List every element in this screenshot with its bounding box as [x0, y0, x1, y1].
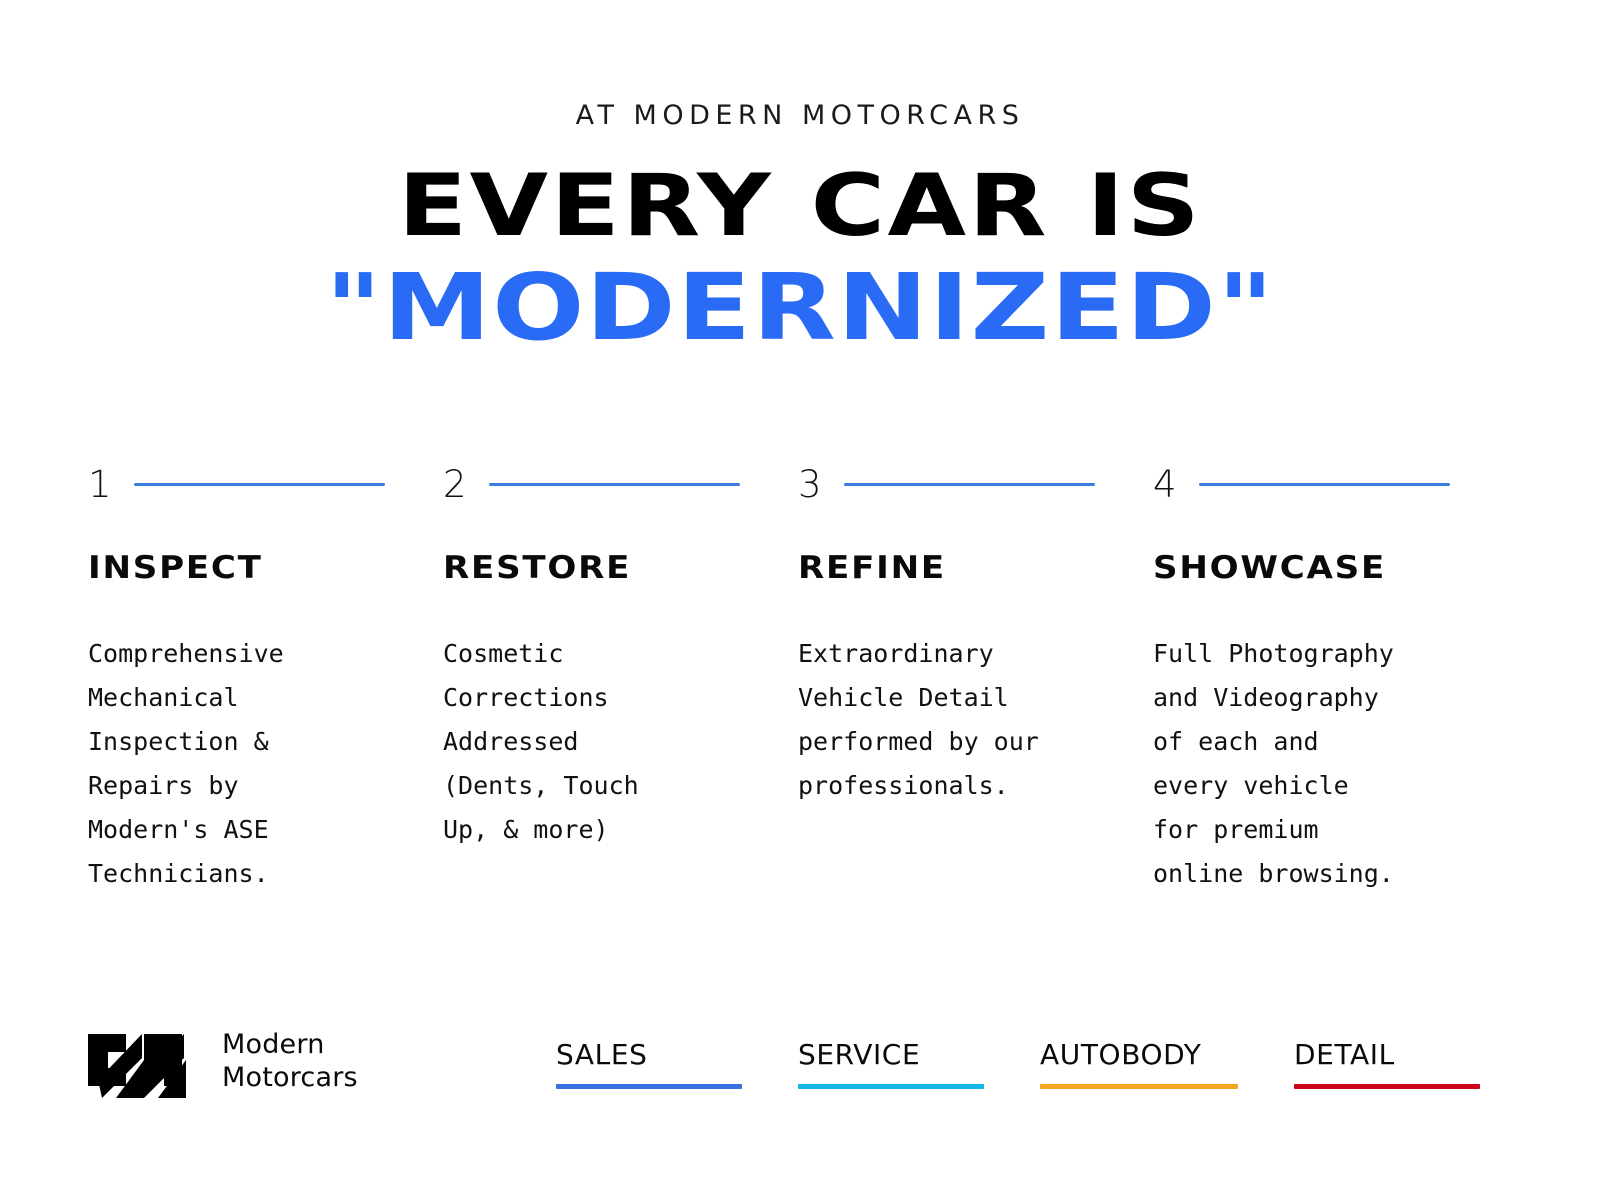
step-3-title: REFINE	[798, 550, 1189, 586]
step-3-refine: 3 REFINE Extraordinary Vehicle Detail pe…	[798, 462, 1153, 896]
brand-wordmark-line-2: Motorcars	[222, 1061, 358, 1094]
service-bar-service	[798, 1084, 984, 1089]
step-4-title: SHOWCASE	[1153, 550, 1544, 586]
step-4-number: 4	[1153, 466, 1177, 503]
step-2-body: Cosmetic Corrections Addressed (Dents, T…	[443, 632, 798, 852]
step-1-body: Comprehensive Mechanical Inspection & Re…	[88, 632, 443, 896]
step-3-rule	[844, 483, 1095, 486]
service-link-sales[interactable]: SALES	[556, 1038, 742, 1089]
step-2-rule	[489, 483, 740, 486]
step-1-number: 1	[88, 466, 112, 503]
brand-wordmark-line-1: Modern	[222, 1028, 358, 1061]
step-2-number: 2	[443, 466, 467, 503]
service-bar-sales	[556, 1084, 742, 1089]
step-4-showcase: 4 SHOWCASE Full Photography and Videogra…	[1153, 462, 1508, 896]
service-bar-autobody	[1040, 1084, 1238, 1089]
step-3-header-row: 3	[798, 462, 1153, 506]
service-label-service: SERVICE	[798, 1038, 984, 1071]
eyebrow-text: AT MODERN MOTORCARS	[0, 100, 1600, 131]
service-links: SALES SERVICE AUTOBODY DETAIL	[556, 1038, 1566, 1089]
service-label-sales: SALES	[556, 1038, 742, 1071]
step-4-body: Full Photography and Videography of each…	[1153, 632, 1508, 896]
process-steps: 1 INSPECT Comprehensive Mechanical Inspe…	[88, 462, 1476, 896]
footer: Modern Motorcars SALES SERVICE AUTOBODY …	[0, 1010, 1600, 1120]
step-1-title: INSPECT	[88, 550, 479, 586]
headline-block: EVERY CAR IS "MODERNIZED"	[0, 158, 1600, 360]
service-bar-detail	[1294, 1084, 1480, 1089]
step-1-rule	[134, 483, 385, 486]
step-3-number: 3	[798, 466, 822, 503]
step-4-rule	[1199, 483, 1450, 486]
step-1-header-row: 1	[88, 462, 443, 506]
service-label-detail: DETAIL	[1294, 1038, 1480, 1071]
headline-line-1: EVERY CAR IS	[0, 158, 1600, 254]
service-link-autobody[interactable]: AUTOBODY	[1040, 1038, 1238, 1089]
service-label-autobody: AUTOBODY	[1040, 1038, 1238, 1071]
brand-wordmark: Modern Motorcars	[222, 1028, 358, 1094]
service-link-service[interactable]: SERVICE	[798, 1038, 984, 1089]
step-2-title: RESTORE	[443, 550, 834, 586]
service-link-detail[interactable]: DETAIL	[1294, 1038, 1480, 1089]
step-4-header-row: 4	[1153, 462, 1508, 506]
step-2-restore: 2 RESTORE Cosmetic Corrections Addressed…	[443, 462, 798, 896]
modern-motorcars-mm-mark	[86, 1022, 198, 1100]
headline-line-2-accent: "MODERNIZED"	[0, 256, 1600, 360]
step-1-inspect: 1 INSPECT Comprehensive Mechanical Inspe…	[88, 462, 443, 896]
step-2-header-row: 2	[443, 462, 798, 506]
step-3-body: Extraordinary Vehicle Detail performed b…	[798, 632, 1153, 808]
brand-logo[interactable]: Modern Motorcars	[86, 1022, 358, 1100]
poster-canvas: AT MODERN MOTORCARS EVERY CAR IS "MODERN…	[0, 0, 1600, 1200]
